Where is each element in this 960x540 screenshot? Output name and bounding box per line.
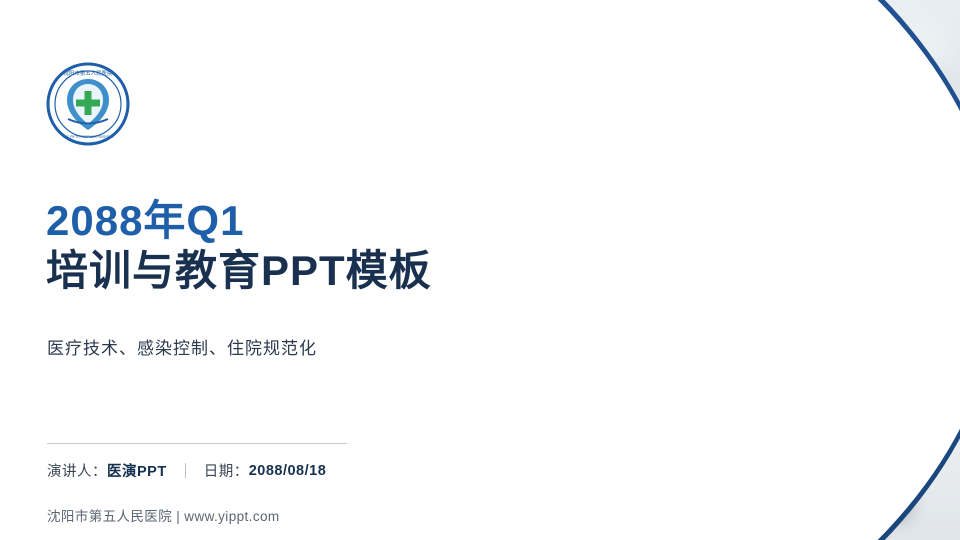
subtitle: 医疗技术、感染控制、住院规范化 bbox=[47, 334, 317, 359]
page-title: 2088年Q1 培训与教育PPT模板 bbox=[46, 196, 466, 295]
date-label: 日期： bbox=[204, 460, 249, 481]
svg-text:沈阳市第五人民医院: 沈阳市第五人民医院 bbox=[64, 69, 113, 77]
meta-separator bbox=[185, 463, 186, 478]
footer-text: 沈阳市第五人民医院 | www.yippt.com bbox=[47, 505, 280, 525]
title-panel: 沈阳市第五人民医院 THE FIFTH PEOPLE'S HOSPITAL 20… bbox=[0, 0, 470, 540]
meta-row: 演讲人： 医演PPT 日期： 2088/08/18 bbox=[47, 460, 326, 481]
speaker-value: 医演PPT bbox=[107, 460, 167, 481]
svg-text:THE FIFTH PEOPLE'S HOSPITAL: THE FIFTH PEOPLE'S HOSPITAL bbox=[63, 135, 114, 139]
hospital-logo-icon: 沈阳市第五人民医院 THE FIFTH PEOPLE'S HOSPITAL bbox=[46, 62, 130, 146]
title-line-1: 2088年Q1 bbox=[46, 196, 466, 246]
divider bbox=[47, 443, 347, 444]
speaker-label: 演讲人： bbox=[47, 460, 107, 481]
presentation-title-slide: 沈阳市第五人民医院 THE FIFTH PEOPLE'S HOSPITAL 20… bbox=[0, 0, 960, 540]
date-value: 2088/08/18 bbox=[249, 463, 327, 479]
title-line-2: 培训与教育PPT模板 bbox=[46, 246, 466, 296]
